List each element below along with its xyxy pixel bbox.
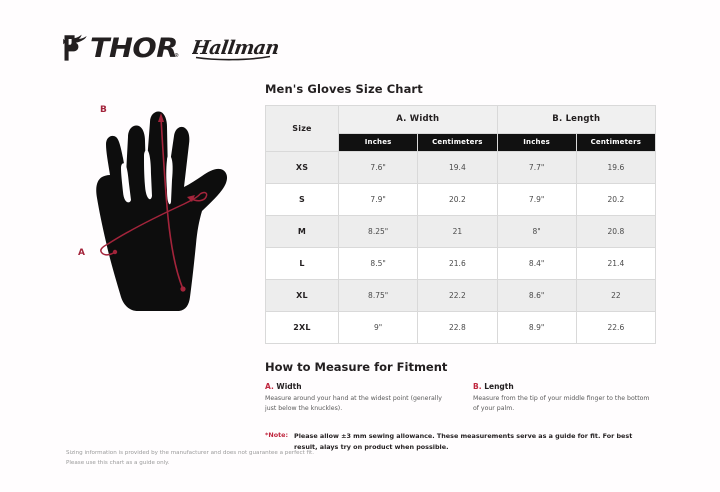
brand-logo-bar: THOR ® Hallman bbox=[62, 33, 278, 63]
cell-width-inches: 8.25" bbox=[339, 216, 418, 248]
footer-disclaimer: Sizing information is provided by the ma… bbox=[66, 448, 314, 469]
cell-length-inches: 8.6" bbox=[497, 280, 576, 312]
cell-length-centimeters: 21.4 bbox=[576, 248, 655, 280]
cell-length-inches: 8.9" bbox=[497, 312, 576, 344]
content-column: Men's Gloves Size Chart Size A. Width B.… bbox=[265, 82, 656, 452]
cell-size: 2XL bbox=[266, 312, 339, 344]
column-header-width-group: A. Width bbox=[339, 106, 498, 134]
cell-size: S bbox=[266, 184, 339, 216]
how-to-measure-title: How to Measure for Fitment bbox=[265, 360, 656, 374]
cell-width-inches: 7.6" bbox=[339, 152, 418, 184]
table-row: M 8.25" 21 8" 20.8 bbox=[266, 216, 656, 248]
cell-width-centimeters: 19.4 bbox=[418, 152, 497, 184]
cell-length-centimeters: 22.6 bbox=[576, 312, 655, 344]
cell-width-inches: 7.9" bbox=[339, 184, 418, 216]
cell-length-centimeters: 20.8 bbox=[576, 216, 655, 248]
measure-item-width-heading: A. Width bbox=[265, 382, 447, 391]
svg-text:Hallman: Hallman bbox=[192, 36, 278, 59]
column-header-width-inches: Inches bbox=[339, 133, 418, 151]
measure-item-length-marker: B. bbox=[473, 382, 482, 391]
measure-item-length: B. Length Measure from the tip of your m… bbox=[473, 382, 655, 414]
table-row: S 7.9" 20.2 7.9" 20.2 bbox=[266, 184, 656, 216]
cell-size: M bbox=[266, 216, 339, 248]
column-header-length-group: B. Length bbox=[497, 106, 656, 134]
cell-width-centimeters: 22.8 bbox=[418, 312, 497, 344]
cell-width-centimeters: 22.2 bbox=[418, 280, 497, 312]
cell-size: L bbox=[266, 248, 339, 280]
page-title: Men's Gloves Size Chart bbox=[265, 82, 656, 96]
table-row: XS 7.6" 19.4 7.7" 19.6 bbox=[266, 152, 656, 184]
cell-width-centimeters: 21.6 bbox=[418, 248, 497, 280]
note-text: Please allow ±3 mm sewing allowance. The… bbox=[294, 431, 646, 452]
cell-length-inches: 8.4" bbox=[497, 248, 576, 280]
measure-item-length-body: Measure from the tip of your middle fing… bbox=[473, 394, 655, 414]
note-label: *Note: bbox=[265, 431, 288, 439]
cell-length-centimeters: 20.2 bbox=[576, 184, 655, 216]
hand-measurement-illustration: B A bbox=[66, 92, 256, 322]
cell-width-centimeters: 20.2 bbox=[418, 184, 497, 216]
cell-length-inches: 7.7" bbox=[497, 152, 576, 184]
table-row: 2XL 9" 22.8 8.9" 22.6 bbox=[266, 312, 656, 344]
size-chart-page: THOR ® Hallman B bbox=[0, 0, 720, 492]
cell-length-centimeters: 22 bbox=[576, 280, 655, 312]
cell-length-inches: 7.9" bbox=[497, 184, 576, 216]
cell-width-inches: 8.5" bbox=[339, 248, 418, 280]
how-to-measure-columns: A. Width Measure around your hand at the… bbox=[265, 382, 656, 414]
cell-length-centimeters: 19.6 bbox=[576, 152, 655, 184]
hand-diagram-svg: B A bbox=[66, 92, 256, 317]
cell-size: XL bbox=[266, 280, 339, 312]
column-header-length-inches: Inches bbox=[497, 133, 576, 151]
table-body: XS 7.6" 19.4 7.7" 19.6 S 7.9" 20.2 7.9" … bbox=[266, 152, 656, 344]
measure-item-width-label: Width bbox=[276, 382, 301, 391]
measure-item-width: A. Width Measure around your hand at the… bbox=[265, 382, 447, 414]
column-header-width-centimeters: Centimeters bbox=[418, 133, 497, 151]
measure-item-length-label: Length bbox=[484, 382, 514, 391]
measure-item-width-body: Measure around your hand at the widest p… bbox=[265, 394, 447, 414]
cell-size: XS bbox=[266, 152, 339, 184]
thor-helmet-icon bbox=[62, 33, 88, 63]
table-header: Size A. Width B. Length Inches Centimete… bbox=[266, 106, 656, 152]
width-marker-label: A bbox=[78, 248, 85, 258]
column-header-size: Size bbox=[266, 106, 339, 152]
cell-length-inches: 8" bbox=[497, 216, 576, 248]
hallman-logo: Hallman bbox=[192, 34, 278, 62]
cell-width-inches: 8.75" bbox=[339, 280, 418, 312]
table-row: XL 8.75" 22.2 8.6" 22 bbox=[266, 280, 656, 312]
note-section: *Note: Please allow ±3 mm sewing allowan… bbox=[265, 431, 656, 452]
footer-line-2: Please use this chart as a guide only. bbox=[66, 458, 314, 468]
length-marker-label: B bbox=[100, 105, 107, 115]
table-row: L 8.5" 21.6 8.4" 21.4 bbox=[266, 248, 656, 280]
thor-wordmark: THOR bbox=[90, 35, 178, 62]
measure-item-length-heading: B. Length bbox=[473, 382, 655, 391]
cell-width-centimeters: 21 bbox=[418, 216, 497, 248]
column-header-length-centimeters: Centimeters bbox=[576, 133, 655, 151]
footer-line-1: Sizing information is provided by the ma… bbox=[66, 448, 314, 458]
how-to-measure-section: How to Measure for Fitment A. Width Meas… bbox=[265, 360, 656, 414]
size-chart-table: Size A. Width B. Length Inches Centimete… bbox=[265, 105, 656, 344]
cell-width-inches: 9" bbox=[339, 312, 418, 344]
thor-logo: THOR ® bbox=[62, 33, 178, 63]
measure-item-width-marker: A. bbox=[265, 382, 274, 391]
table-header-row-groups: Size A. Width B. Length bbox=[266, 106, 656, 134]
